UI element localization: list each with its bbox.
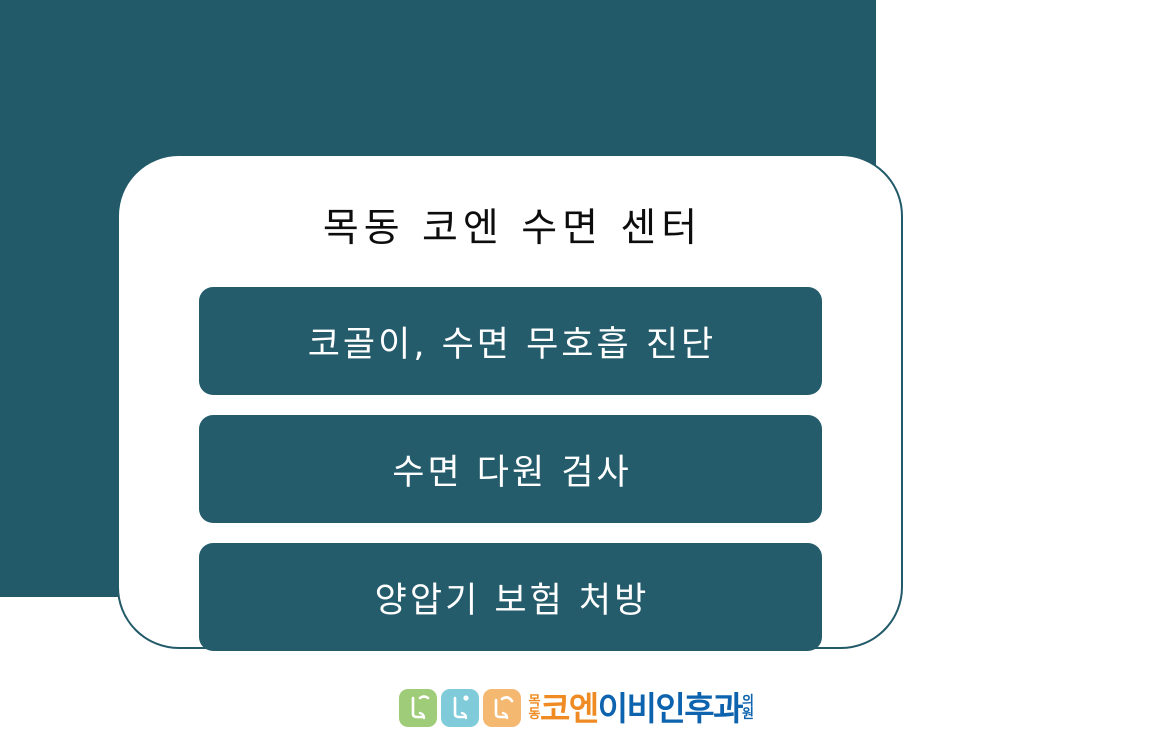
smiling-face-green-tile-icon xyxy=(399,689,437,727)
page-title: 목동 코엔 수면 센터 xyxy=(119,208,901,251)
logo-suffix-bottom: 원 xyxy=(742,708,753,721)
logo-suffix: 의 원 xyxy=(742,695,753,722)
logo-tile-group xyxy=(399,689,521,727)
logo-wordmark: 목 동 코엔 이비인후과 의 원 xyxy=(529,688,754,728)
service-button-cpap-insurance-prescription[interactable]: 양압기 보험 처방 xyxy=(199,543,822,651)
logo-prefix-bottom: 동 xyxy=(529,708,540,721)
logo-suffix-top: 의 xyxy=(742,695,753,708)
service-button-snoring-apnea-diagnosis[interactable]: 코골이, 수면 무호흡 진단 xyxy=(199,287,822,395)
sleep-center-card: 목동 코엔 수면 센터 코골이, 수면 무호흡 진단 수면 다원 검사 양압기 … xyxy=(117,154,903,649)
service-button-polysomnography[interactable]: 수면 다원 검사 xyxy=(199,415,822,523)
smiling-face-orange-tile-icon xyxy=(483,689,521,727)
logo-prefix-top: 목 xyxy=(529,695,540,708)
service-button-list: 코골이, 수면 무호흡 진단 수면 다원 검사 양압기 보험 처방 xyxy=(199,287,822,651)
logo-specialty: 이비인후과 xyxy=(598,692,742,725)
clinic-logo: 목 동 코엔 이비인후과 의 원 xyxy=(0,688,1152,728)
logo-brand-name: 코엔 xyxy=(540,692,598,725)
logo-prefix: 목 동 xyxy=(529,695,540,722)
smiling-face-teal-tile-icon xyxy=(441,689,479,727)
